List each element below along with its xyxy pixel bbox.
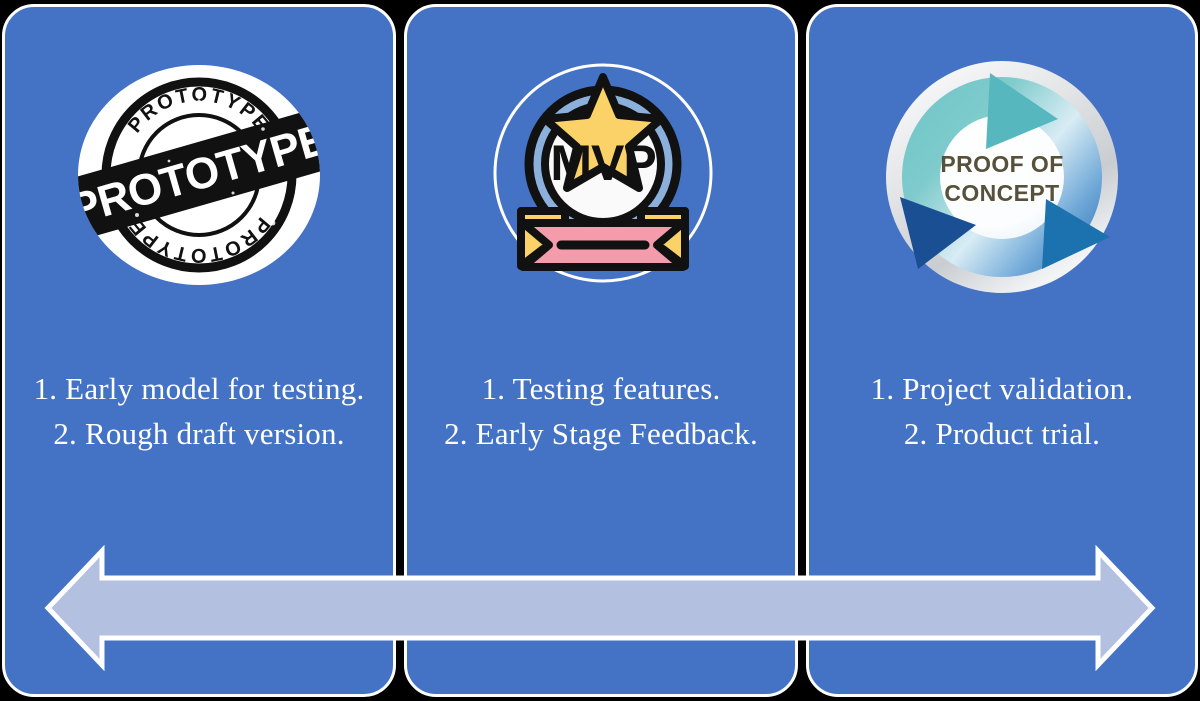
diagram-canvas: PROTOTYPE PROTOTYPE PROTOTYPE bbox=[0, 0, 1200, 701]
poc-label-line1: PROOF OF bbox=[940, 151, 1063, 177]
poc-label-line2: CONCEPT bbox=[944, 180, 1059, 206]
stage-description-proof-of-concept: 1. Project validation. 2. Product trial. bbox=[809, 367, 1195, 457]
description-line: 1. Testing features. bbox=[407, 367, 795, 412]
description-line: 2. Rough draft version. bbox=[5, 412, 393, 457]
description-line: 2. Early Stage Feedback. bbox=[407, 412, 795, 457]
description-line: 2. Product trial. bbox=[809, 412, 1195, 457]
stage-card-prototype[interactable]: PROTOTYPE PROTOTYPE PROTOTYPE bbox=[2, 4, 396, 697]
stage-card-proof-of-concept[interactable]: PROOF OF CONCEPT 1. Project validation. … bbox=[806, 4, 1198, 697]
mvp-label: MVP bbox=[550, 135, 655, 191]
description-line: 1. Project validation. bbox=[809, 367, 1195, 412]
proof-of-concept-cycle-icon: PROOF OF CONCEPT bbox=[880, 65, 1124, 289]
stage-description-prototype: 1. Early model for testing. 2. Rough dra… bbox=[5, 367, 393, 457]
prototype-stamp-icon: PROTOTYPE PROTOTYPE PROTOTYPE bbox=[77, 65, 321, 289]
stage-card-mvp[interactable]: MVP 1. Testing features. 2. Early Stage … bbox=[404, 4, 798, 697]
mvp-medal-icon: MVP bbox=[479, 65, 723, 289]
stage-description-mvp: 1. Testing features. 2. Early Stage Feed… bbox=[407, 367, 795, 457]
description-line: 1. Early model for testing. bbox=[5, 367, 393, 412]
